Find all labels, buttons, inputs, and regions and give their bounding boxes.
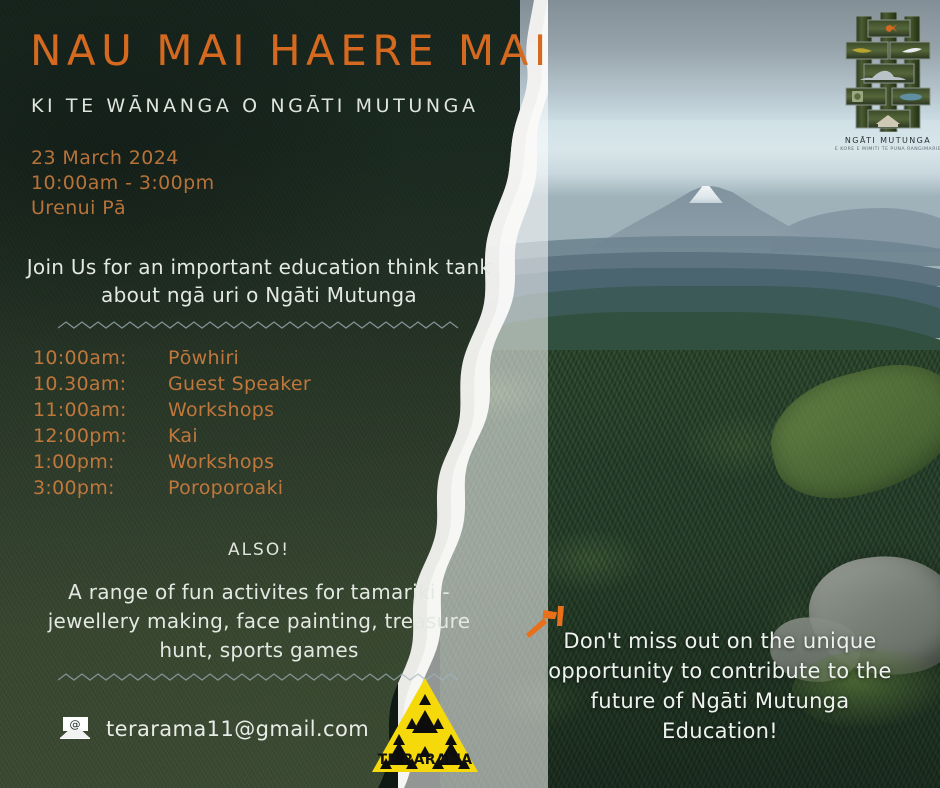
event-time: 10:00am - 3:00pm [31,171,214,196]
schedule-time: 1:00pm: [33,449,168,475]
activities-text: A range of fun activites for tamariki - … [20,578,498,665]
sponsor-name: TE RARAMA [370,752,480,768]
also-label: ALSO! [24,540,494,560]
schedule-item: Poroporoaki [168,475,283,501]
schedule-time: 10:00am: [33,345,168,371]
schedule-item: Kai [168,423,198,449]
event-venue: Urenui Pā [31,196,214,221]
contact-email-row[interactable]: @ terarama11@gmail.com [58,714,369,744]
poster-canvas: NAU MAI HAERE MAI KI TE WĀNANGA O NGĀTI … [0,0,940,788]
schedule-item: Pōwhiri [168,345,239,371]
schedule-item: Workshops [168,449,274,475]
schedule-row: 1:00pm: Workshops [33,449,311,475]
event-details: 23 March 2024 10:00am - 3:00pm Urenui Pā [31,146,214,221]
schedule-time: 3:00pm: [33,475,168,501]
schedule-list: 10:00am: Pōwhiri 10.30am: Guest Speaker … [33,345,311,501]
tukutuku-lattice-icon [842,12,934,132]
schedule-item: Workshops [168,397,274,423]
schedule-row: 11:00am: Workshops [33,397,311,423]
schedule-row: 3:00pm: Poroporoaki [33,475,311,501]
event-date: 23 March 2024 [31,146,214,171]
schedule-row: 10.30am: Guest Speaker [33,371,311,397]
call-to-action: Don't miss out on the unique opportunity… [530,626,910,746]
svg-text:@: @ [70,718,81,731]
schedule-row: 10:00am: Pōwhiri [33,345,311,371]
schedule-item: Guest Speaker [168,371,311,397]
schedule-row: 12:00pm: Kai [33,423,311,449]
schedule-time: 10.30am: [33,371,168,397]
schedule-time: 11:00am: [33,397,168,423]
page-subtitle: KI TE WĀNANGA O NGĀTI MUTUNGA [31,95,479,117]
envelope-icon: @ [58,714,92,744]
schedule-time: 12:00pm: [33,423,168,449]
event-description: Join Us for an important education think… [24,253,494,309]
contact-email[interactable]: terarama11@gmail.com [106,717,369,741]
wave-divider-top [58,318,462,334]
page-title: NAU MAI HAERE MAI [30,26,552,75]
iwi-name: NGĀTI MUTUNGA [836,136,940,145]
poster-content: NAU MAI HAERE MAI KI TE WĀNANGA O NGĀTI … [0,0,940,788]
iwi-tagline: E KORE E MIMITI TE PUNA RANGIMARIE [826,147,940,152]
